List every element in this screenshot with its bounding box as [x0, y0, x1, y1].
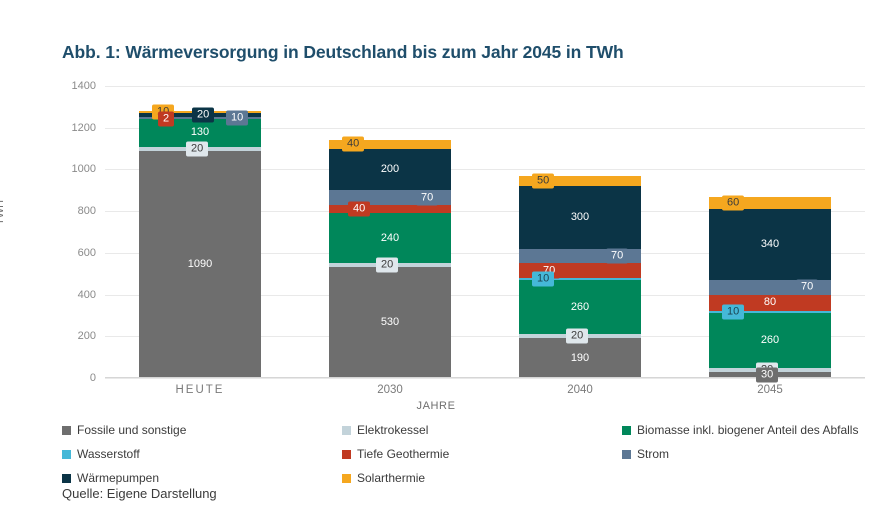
- x-tick-label: 2030: [329, 384, 451, 396]
- bar-segment-label: 20: [566, 329, 588, 344]
- bar-segment[interactable]: 240: [329, 213, 451, 263]
- legend-label: Fossile und sonstige: [77, 423, 186, 437]
- bar-segment-label: 1090: [188, 259, 212, 270]
- legend-label: Elektrokessel: [357, 423, 428, 437]
- legend-item[interactable]: Wasserstoff: [62, 447, 342, 461]
- x-tick-label: HEUTE: [139, 384, 261, 396]
- bar-segment[interactable]: 1090: [139, 151, 261, 378]
- y-tick-label: 0: [50, 372, 96, 384]
- bar-segment-label: 60: [722, 195, 744, 210]
- bar-segment-label: 40: [348, 202, 370, 217]
- x-axis-line: [105, 377, 865, 378]
- bar-column[interactable]: 603407080102602030: [709, 86, 831, 378]
- bar-segment-label: 10: [226, 110, 248, 125]
- bar-segment-label: 20: [376, 258, 398, 273]
- bar-segment-label: 70: [796, 280, 818, 295]
- bar-segment-label: 20: [192, 107, 214, 122]
- bar-segment-label: 190: [571, 353, 589, 364]
- x-axis-title: JAHRE: [0, 400, 872, 412]
- bar-segment[interactable]: 340: [709, 209, 831, 280]
- legend-item[interactable]: Fossile und sonstige: [62, 423, 342, 437]
- bar-segment[interactable]: 50: [519, 176, 641, 186]
- bar-segment[interactable]: 70: [519, 249, 641, 264]
- bar-segment[interactable]: 300: [519, 186, 641, 249]
- bar-segment-label: 70: [606, 249, 628, 264]
- bar-segment-label: 200: [381, 164, 399, 175]
- y-tick-label: 600: [50, 247, 96, 259]
- bar-segment[interactable]: 60: [709, 197, 831, 210]
- y-axis-title: TWH: [0, 200, 6, 225]
- legend-swatch-icon: [342, 450, 351, 459]
- bar-segment[interactable]: 40: [329, 205, 451, 213]
- x-tick-label: 2045: [709, 384, 831, 396]
- chart-legend: Fossile und sonstigeElektrokesselBiomass…: [62, 418, 862, 490]
- bar-segment-label: 240: [381, 233, 399, 244]
- source-note: Quelle: Eigene Darstellung: [62, 486, 217, 501]
- bar-stack: 5030070701026020190: [519, 176, 641, 378]
- bar-segment[interactable]: 530: [329, 267, 451, 378]
- bar-segment-label: 80: [764, 297, 776, 308]
- y-tick-label: 200: [50, 330, 96, 342]
- legend-item[interactable]: Elektrokessel: [342, 423, 622, 437]
- bar-segment-label: 50: [532, 173, 554, 188]
- bar-segment-label: 340: [761, 239, 779, 250]
- bar-segment-label: 70: [416, 190, 438, 205]
- y-tick-label: 800: [50, 205, 96, 217]
- bar-segment-label: 20: [186, 141, 208, 156]
- bar-segment[interactable]: 200: [329, 149, 451, 191]
- x-tick-label: 2040: [519, 384, 641, 396]
- bar-segment-label: 10: [722, 305, 744, 320]
- legend-label: Wasserstoff: [77, 447, 140, 461]
- bar-stack: 603407080102602030: [709, 197, 831, 378]
- bar-segment-label: 2: [158, 112, 174, 127]
- page-title: Abb. 1: Wärmeversorgung in Deutschland b…: [62, 42, 624, 63]
- legend-label: Tiefe Geothermie: [357, 447, 449, 461]
- bar-column[interactable]: 5030070701026020190: [519, 86, 641, 378]
- legend-swatch-icon: [622, 450, 631, 459]
- bar-segment-label: 10: [532, 271, 554, 286]
- bar-segment-label: 30: [756, 367, 778, 382]
- bar-column[interactable]: 1020102130201090: [139, 86, 261, 378]
- bar-segment[interactable]: 260: [519, 280, 641, 334]
- legend-swatch-icon: [342, 426, 351, 435]
- legend-item[interactable]: Strom: [622, 447, 862, 461]
- y-axis-ticks: 0200400600800100012001400: [50, 86, 96, 378]
- bar-segment-label: 530: [381, 317, 399, 328]
- bar-segment[interactable]: 40: [329, 140, 451, 148]
- y-tick-label: 1000: [50, 163, 96, 175]
- y-tick-label: 1400: [50, 80, 96, 92]
- legend-label: Strom: [637, 447, 669, 461]
- bar-segment-label: 260: [761, 335, 779, 346]
- y-tick-label: 400: [50, 289, 96, 301]
- bar-segment-label: 130: [191, 127, 209, 138]
- legend-swatch-icon: [622, 426, 631, 435]
- legend-label: Biomasse inkl. biogener Anteil des Abfal…: [637, 423, 858, 437]
- bar-stack: 40200704024020530: [329, 140, 451, 378]
- bar-column[interactable]: 40200704024020530: [329, 86, 451, 378]
- legend-item[interactable]: Wärmepumpen: [62, 471, 342, 485]
- bar-segment-label: 40: [342, 137, 364, 152]
- bar-segment-label: 300: [571, 212, 589, 223]
- bar-segment[interactable]: 70: [709, 280, 831, 295]
- bar-segment[interactable]: 260: [709, 313, 831, 367]
- y-tick-label: 1200: [50, 122, 96, 134]
- gridline: [105, 378, 865, 379]
- legend-label: Wärmepumpen: [77, 471, 159, 485]
- bar-segment[interactable]: 190: [519, 338, 641, 378]
- bar-stack: 1020102130201090: [139, 111, 261, 378]
- legend-swatch-icon: [342, 474, 351, 483]
- bar-segment-label: 260: [571, 302, 589, 313]
- legend-item[interactable]: Biomasse inkl. biogener Anteil des Abfal…: [622, 423, 862, 437]
- legend-label: Solarthermie: [357, 471, 425, 485]
- legend-item[interactable]: Tiefe Geothermie: [342, 447, 622, 461]
- legend-swatch-icon: [62, 426, 71, 435]
- plot-area: 1020102130201090402007040240205305030070…: [105, 86, 865, 378]
- legend-swatch-icon: [62, 474, 71, 483]
- legend-item[interactable]: Solarthermie: [342, 471, 622, 485]
- legend-swatch-icon: [62, 450, 71, 459]
